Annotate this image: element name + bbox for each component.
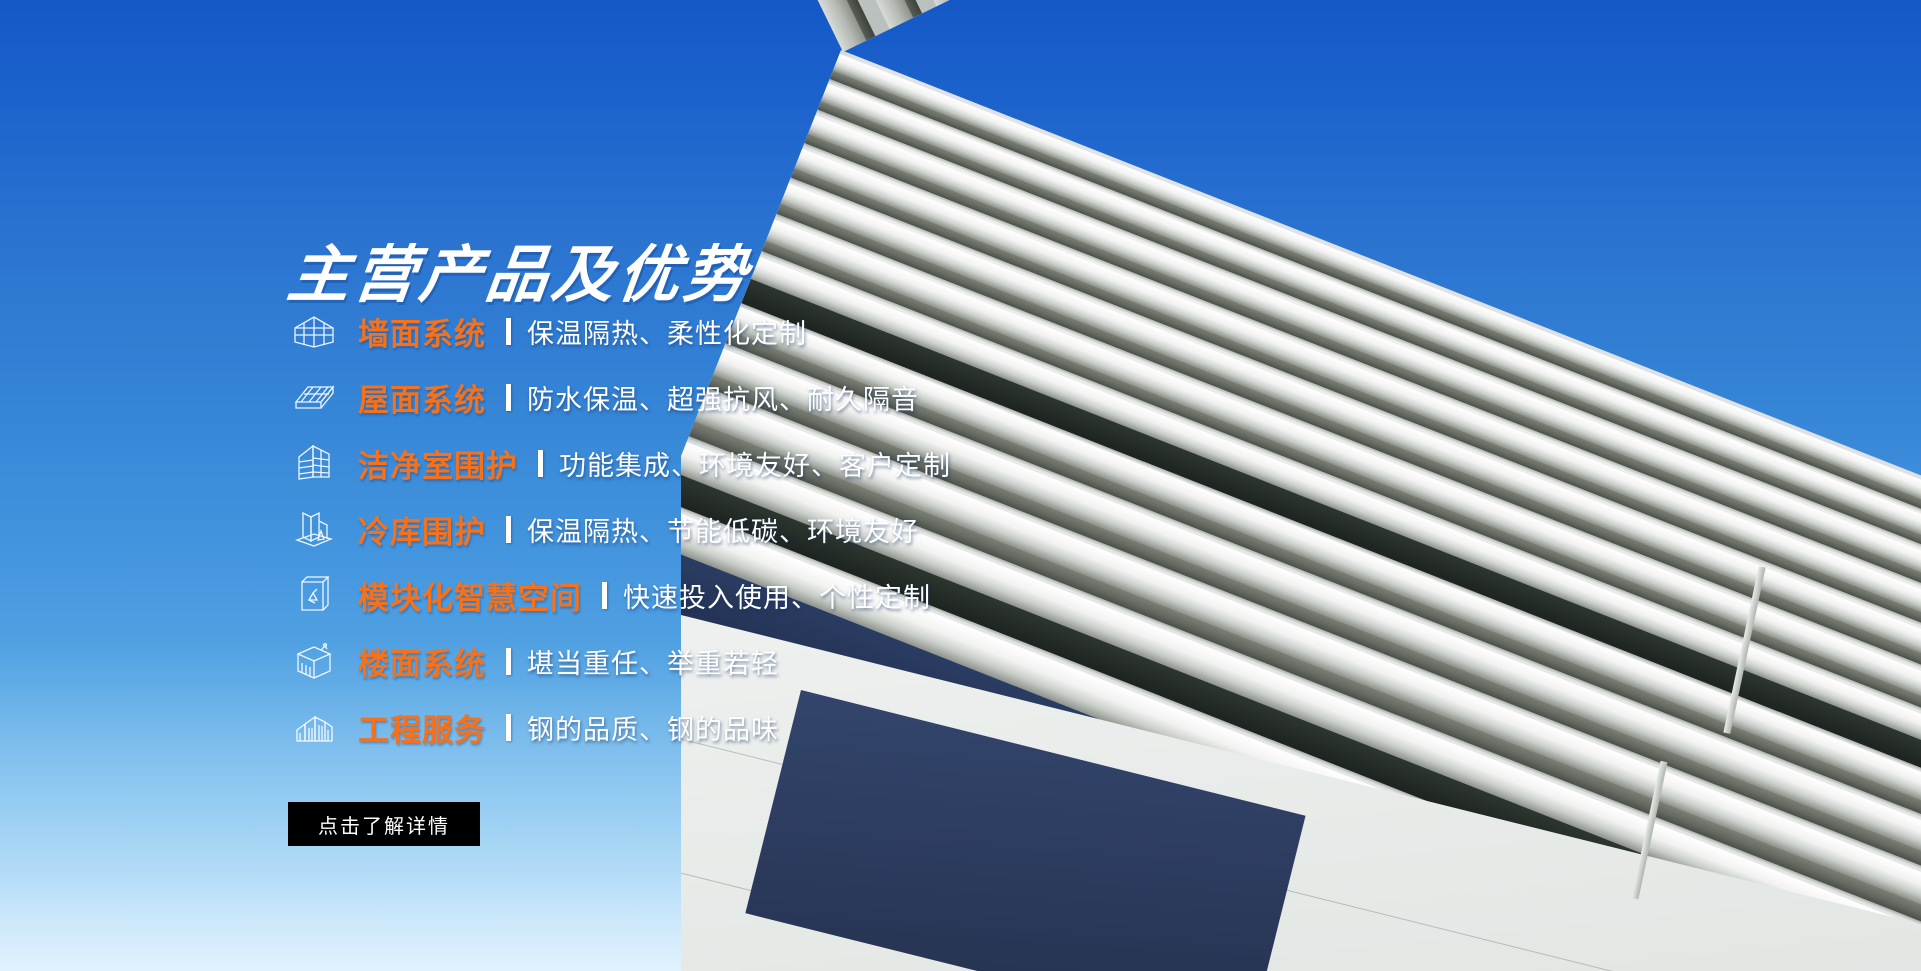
learn-more-button[interactable]: 点击了解详情 <box>288 802 480 846</box>
list-item[interactable]: 洁净室围护 功能集成、环境友好、客户定制 <box>288 430 951 496</box>
separator-bar <box>538 450 543 477</box>
floor-system-icon <box>288 639 340 683</box>
product-name: 模块化智慧空间 <box>358 573 582 618</box>
product-desc: 保温隔热、柔性化定制 <box>527 312 807 351</box>
list-item[interactable]: 墙面系统 保温隔热、柔性化定制 <box>288 298 951 364</box>
product-name: 工程服务 <box>358 705 486 750</box>
roof-system-icon <box>288 375 340 419</box>
engineering-service-icon <box>288 705 340 749</box>
list-item[interactable]: 冷库围护 保温隔热、节能低碳、环境友好 <box>288 496 951 562</box>
cold-storage-enclosure-icon <box>288 507 340 551</box>
separator-bar <box>602 582 607 609</box>
list-item[interactable]: 工程服务 钢的品质、钢的品味 <box>288 694 951 760</box>
separator-bar <box>506 648 511 675</box>
separator-bar <box>506 318 511 345</box>
separator-bar <box>506 516 511 543</box>
product-name: 洁净室围护 <box>358 441 518 486</box>
product-desc: 钢的品质、钢的品味 <box>527 708 779 747</box>
product-desc: 防水保温、超强抗风、耐久隔音 <box>527 378 919 417</box>
product-desc: 堪当重任、举重若轻 <box>527 642 779 681</box>
list-item[interactable]: 模块化智慧空间 快速投入使用、个性定制 <box>288 562 951 628</box>
product-desc: 功能集成、环境友好、客户定制 <box>559 444 951 483</box>
product-list: 墙面系统 保温隔热、柔性化定制 屋面系统 <box>288 298 951 760</box>
list-item[interactable]: 楼面系统 堪当重任、举重若轻 <box>288 628 951 694</box>
separator-bar <box>506 384 511 411</box>
hero-content: 主营产品及优势 墙面系统 保温隔热、柔性化定制 <box>0 0 1100 971</box>
cleanroom-enclosure-icon <box>288 441 340 485</box>
product-name: 墙面系统 <box>358 309 486 354</box>
hero-banner: 主营产品及优势 墙面系统 保温隔热、柔性化定制 <box>0 0 1921 971</box>
product-name: 屋面系统 <box>358 375 486 420</box>
product-name: 冷库围护 <box>358 507 486 552</box>
product-desc: 快速投入使用、个性定制 <box>623 576 931 615</box>
modular-smart-space-icon <box>288 573 340 617</box>
separator-bar <box>506 714 511 741</box>
product-name: 楼面系统 <box>358 639 486 684</box>
list-item[interactable]: 屋面系统 防水保温、超强抗风、耐久隔音 <box>288 364 951 430</box>
wall-system-icon <box>288 309 340 353</box>
product-desc: 保温隔热、节能低碳、环境友好 <box>527 510 919 549</box>
